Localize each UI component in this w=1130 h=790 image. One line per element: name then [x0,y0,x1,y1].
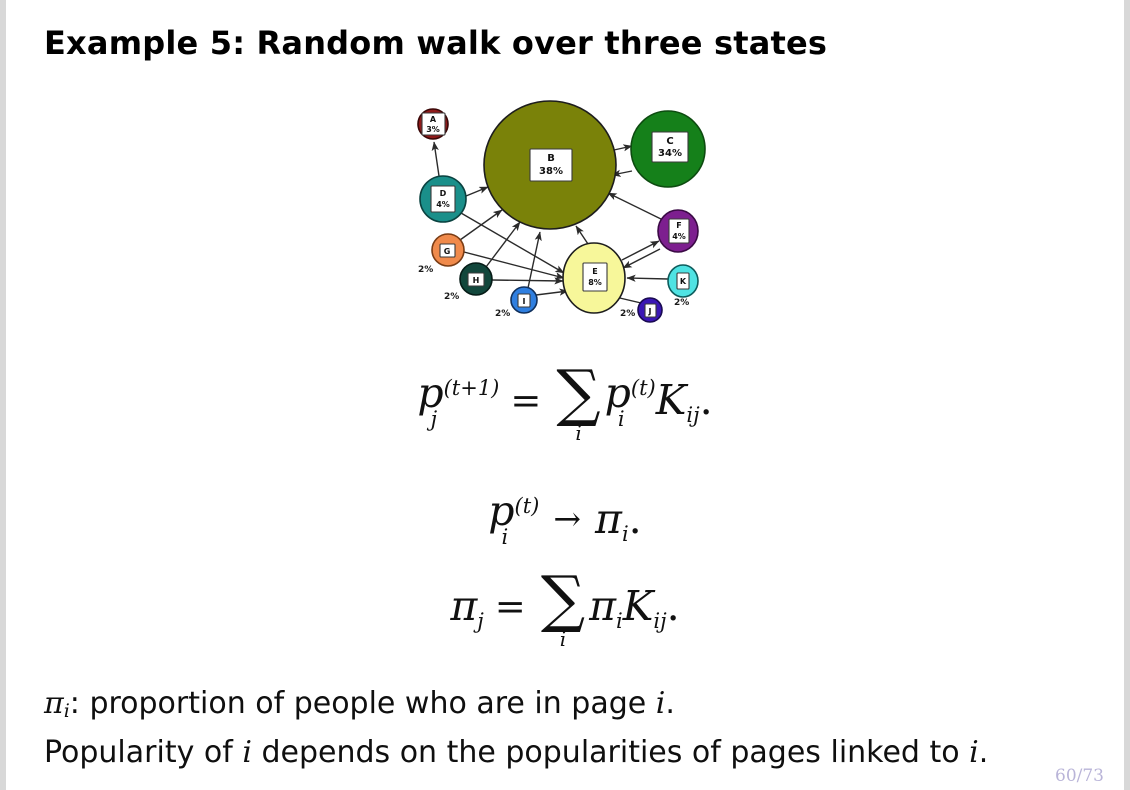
node-H-label: H [473,276,480,285]
edge-F-B [608,193,663,220]
edge-K-E [627,278,668,279]
node-J-percent: 2% [620,309,635,319]
node-C-label: C [666,136,673,147]
node-I-percent: 2% [495,309,510,319]
prose-line1-end: . [665,686,675,721]
eq3-k-base: K [623,582,654,630]
node-H-percent: 2% [444,292,459,302]
node-D-percent: 4% [436,200,450,209]
edge-F-E [623,249,660,268]
page-number: 60/73 [1055,766,1104,786]
random-walk-graph-figure: B 38% C 34% A 3% D 4% [398,92,724,336]
eq1-k-subscript: ij [686,403,699,427]
node-A-percent: 3% [426,125,440,134]
graph-node-G[interactable]: G [432,234,464,266]
eq3-equals: = [495,585,526,628]
eq1-k-term: K ij [656,376,700,424]
graph-node-H[interactable]: H [460,263,492,295]
edge-D-B [466,187,488,196]
eq2-period: . [629,495,642,543]
prose-line1-var: i [656,686,666,721]
graph-node-F[interactable]: F 4% [658,210,698,252]
eq1-p-i-term: p (t) i [605,369,656,432]
prose-line-popularity: Popularity of i depends on the popularit… [44,735,988,770]
eq3-pi-i-subscript: i [616,609,623,633]
graph-node-B[interactable]: B 38% [484,101,616,229]
eq2-p-subscript: i [502,527,509,548]
graph-node-K[interactable]: K [668,265,698,297]
eq3-period: . [667,582,680,630]
eq3-summation: ∑ i [541,574,585,651]
eq1-summation: ∑ i [556,368,600,445]
edge-I-E [536,291,568,295]
eq2-pi-term: π i [595,495,629,543]
eq2-pi-subscript: i [622,522,629,546]
eq1-sigma-index: i [575,421,581,445]
eq1-p-i-superscript: (t) [631,378,656,399]
equation-transition-update: p (t+1) j = ∑ i p (t) i K ij [0,362,1130,439]
node-F-percent: 4% [672,232,686,241]
eq3-k-term: K ij [623,582,667,630]
edge-D-A [434,142,439,176]
node-F-label: F [676,221,681,230]
eq1-sigma-glyph: ∑ [556,368,600,419]
eq3-pi-subscript: j [477,609,484,633]
node-G-percent: 2% [418,265,433,275]
edge-B-C [614,146,632,150]
eq1-period: . [700,376,713,424]
graph-node-J[interactable]: J [638,298,662,322]
node-A-label: A [430,115,437,124]
eq2-arrow: → [553,499,581,538]
page-title: Example 5: Random walk over three states [44,24,827,62]
eq3-k-subscript: ij [653,609,666,633]
edge-I-B [528,232,540,288]
eq1-p-subscript: j [431,409,438,430]
edge-E-F [622,241,659,260]
slide-canvas: Example 5: Random walk over three states [0,0,1130,790]
eq2-pi-base: π [595,495,622,543]
eq1-k-base: K [656,376,687,424]
graph-node-D[interactable]: D 4% [420,176,466,222]
prose-line2-end: . [979,735,989,770]
prose-line1-text: : proportion of people who are in page [70,686,656,721]
graph-node-I[interactable]: I [511,287,537,313]
node-C-percent: 34% [658,148,682,159]
eq3-sigma-index: i [560,627,566,651]
node-J-label: J [648,307,652,316]
prose-line2-mid: depends on the popularities of pages lin… [252,735,969,770]
graph-node-E[interactable]: E 8% [563,243,625,313]
equation-convergence: p (t) i → π i . [0,487,1130,550]
eq1-p-i-subscript: i [618,409,625,430]
prose-pi-symbol: π [44,686,64,721]
eq3-pi-i-base: π [589,582,616,630]
node-B-label: B [547,153,555,164]
eq1-p-term: p (t+1) j [417,369,499,432]
eq2-p-superscript: (t) [515,496,540,517]
prose-line-pi-definition: πi: proportion of people who are in page… [44,686,675,722]
node-G-label: G [444,247,451,256]
node-E-label: E [592,267,597,276]
node-K-percent: 2% [674,298,689,308]
edge-E-B [576,226,588,244]
equation-stationary: π j = ∑ i π i K ij . [0,568,1130,645]
eq3-pi-base: π [450,582,477,630]
node-D-label: D [440,189,447,198]
prose-line2-var2: i [969,735,979,770]
eq1-equals: = [510,379,541,422]
prose-line2-start: Popularity of [44,735,242,770]
graph-node-C[interactable]: C 34% [631,111,705,187]
node-B-percent: 38% [539,166,563,177]
eq3-pi-j-term: π j [450,582,483,630]
node-I-label: I [523,297,526,306]
eq3-pi-i-term: π i [589,582,623,630]
eq2-p-term: p (t) i [488,487,539,550]
node-K-label: K [680,277,687,286]
edge-G-B [460,210,502,240]
node-E-percent: 8% [588,278,602,287]
graph-node-A[interactable]: A 3% [418,109,448,139]
eq1-p-superscript: (t+1) [444,378,500,399]
edge-H-E [492,280,563,281]
prose-line2-var1: i [242,735,252,770]
eq3-sigma-glyph: ∑ [541,574,585,625]
